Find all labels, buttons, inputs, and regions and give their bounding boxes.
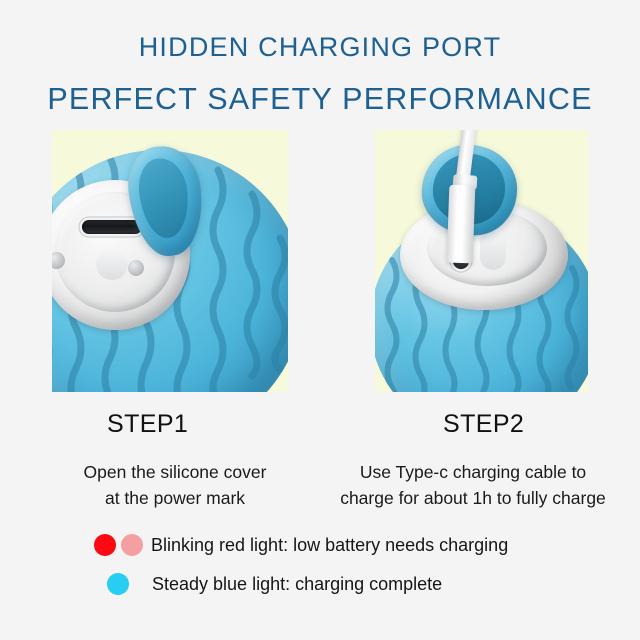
step-1-description: Open the silicone cover at the power mar… (30, 459, 320, 511)
legend-row-low-battery: Blinking red light: low battery needs ch… (0, 531, 640, 561)
legend-row-charging-complete: Steady blue light: charging complete (0, 570, 640, 600)
red-light-dot-faded-icon (121, 534, 143, 556)
step-1-label: STEP1 (107, 410, 188, 439)
port-nub (96, 248, 128, 280)
promo-page: HIDDEN CHARGING PORT PERFECT SAFETY PERF… (0, 0, 640, 640)
red-light-dot-icon (94, 534, 116, 556)
product-illustration-cable-plugged (375, 130, 588, 392)
page-title-line-2: PERFECT SAFETY PERFORMANCE (0, 84, 640, 115)
step-2-description: Use Type-c charging cable to charge for … (318, 459, 628, 511)
legend-label-charging-complete: Steady blue light: charging complete (152, 570, 442, 598)
housing-screw-right-icon (128, 260, 144, 276)
step-2-label: STEP2 (443, 410, 524, 439)
product-illustration-open-cover (52, 130, 288, 392)
step-2-description-line-1: Use Type-c charging cable to (318, 459, 628, 485)
page-title-line-1: HIDDEN CHARGING PORT (0, 34, 640, 61)
step-1-description-line-2: at the power mark (30, 485, 320, 511)
product-image-step2 (375, 130, 588, 392)
charging-cable-connector (447, 185, 476, 264)
headings-block: HIDDEN CHARGING PORT PERFECT SAFETY PERF… (0, 0, 640, 115)
usb-c-port-icon (82, 220, 142, 234)
blue-light-dot-icon (107, 573, 129, 595)
legend-label-low-battery: Blinking red light: low battery needs ch… (151, 531, 508, 559)
step-1-description-line-1: Open the silicone cover (30, 459, 320, 485)
product-image-step1 (52, 130, 288, 392)
step-2-description-line-2: charge for about 1h to fully charge (318, 485, 628, 511)
